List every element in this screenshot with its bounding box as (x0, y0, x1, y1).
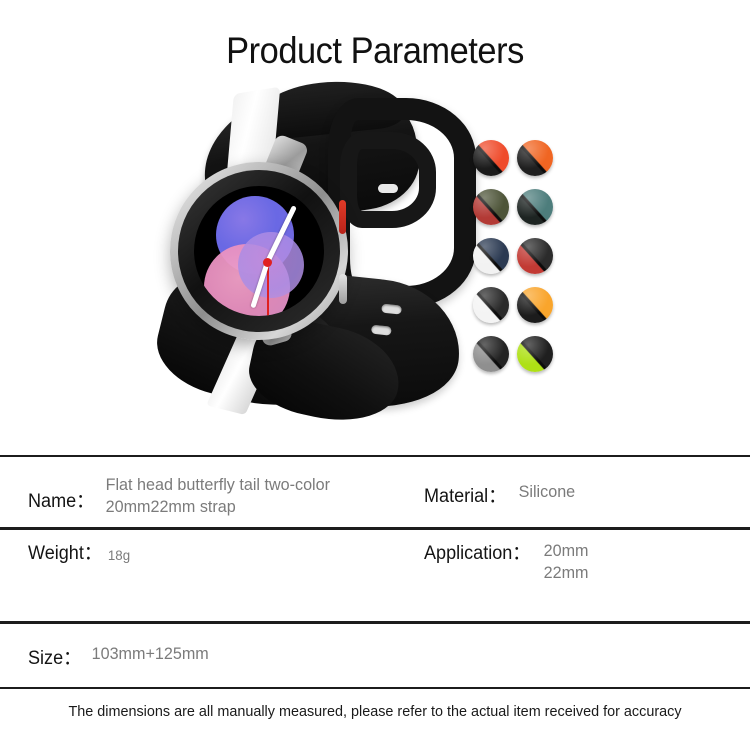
watch-case (170, 162, 348, 340)
spec-value-size: 103mm+125mm (84, 643, 209, 665)
spec-label-weight: Weight： (28, 538, 102, 565)
watch-dial (194, 186, 324, 316)
color-swatch-white-navy[interactable] (473, 238, 509, 274)
table-rule-third (0, 621, 750, 624)
color-swatch-red-dark-gray[interactable] (517, 238, 553, 274)
crown-accent-button[interactable] (339, 200, 346, 234)
color-swatch-gray-black[interactable] (473, 336, 509, 372)
product-hero-image (0, 80, 750, 445)
watch-bezel (178, 170, 340, 332)
color-swatch-black-orange[interactable] (517, 140, 553, 176)
footer-disclaimer: The dimensions are all manually measured… (15, 703, 735, 720)
color-swatch-black-amber[interactable] (517, 287, 553, 323)
color-swatch-black-teal[interactable] (517, 189, 553, 225)
spec-value-name: Flat head butterfly tail two-color 20mm2… (98, 474, 364, 518)
color-swatch-grid (473, 140, 561, 385)
smartwatch-illustration (150, 80, 480, 440)
side-button[interactable] (339, 274, 347, 304)
table-rule-bottom (0, 687, 750, 689)
color-swatch-white-black[interactable] (473, 287, 509, 323)
spec-value-material: Silicone (511, 481, 575, 503)
spec-label-size: Size： (28, 643, 81, 670)
spec-value-weight: 18g (106, 538, 130, 566)
spec-row-application: Application： 20mm 22mm (424, 538, 591, 584)
spec-row-name: Name： Flat head butterfly tail two-color… (28, 474, 418, 518)
butterfly-tail-inner-loop (340, 132, 436, 228)
spec-row-weight: Weight： 18g (28, 538, 131, 566)
color-swatch-lime-black[interactable] (517, 336, 553, 372)
table-rule-top (0, 455, 750, 457)
page-title: Product Parameters (26, 30, 724, 72)
spec-row-material: Material： Silicone (424, 481, 578, 508)
spec-label-application: Application： (424, 538, 530, 565)
spec-value-application: 20mm 22mm (536, 538, 588, 584)
strap-hole-icon (381, 304, 402, 315)
spec-label-material: Material： (424, 481, 506, 508)
table-rule-second (0, 527, 750, 530)
tail-hole-icon (378, 184, 398, 193)
color-swatch-red-olive[interactable] (473, 189, 509, 225)
product-parameters-page: Product Parameters (0, 0, 750, 750)
spec-row-size: Size： 103mm+125mm (28, 643, 215, 670)
color-swatch-black-red[interactable] (473, 140, 509, 176)
strap-hole-icon (371, 325, 392, 336)
spec-label-name: Name： (28, 474, 94, 513)
hands-center-cap (263, 258, 272, 267)
